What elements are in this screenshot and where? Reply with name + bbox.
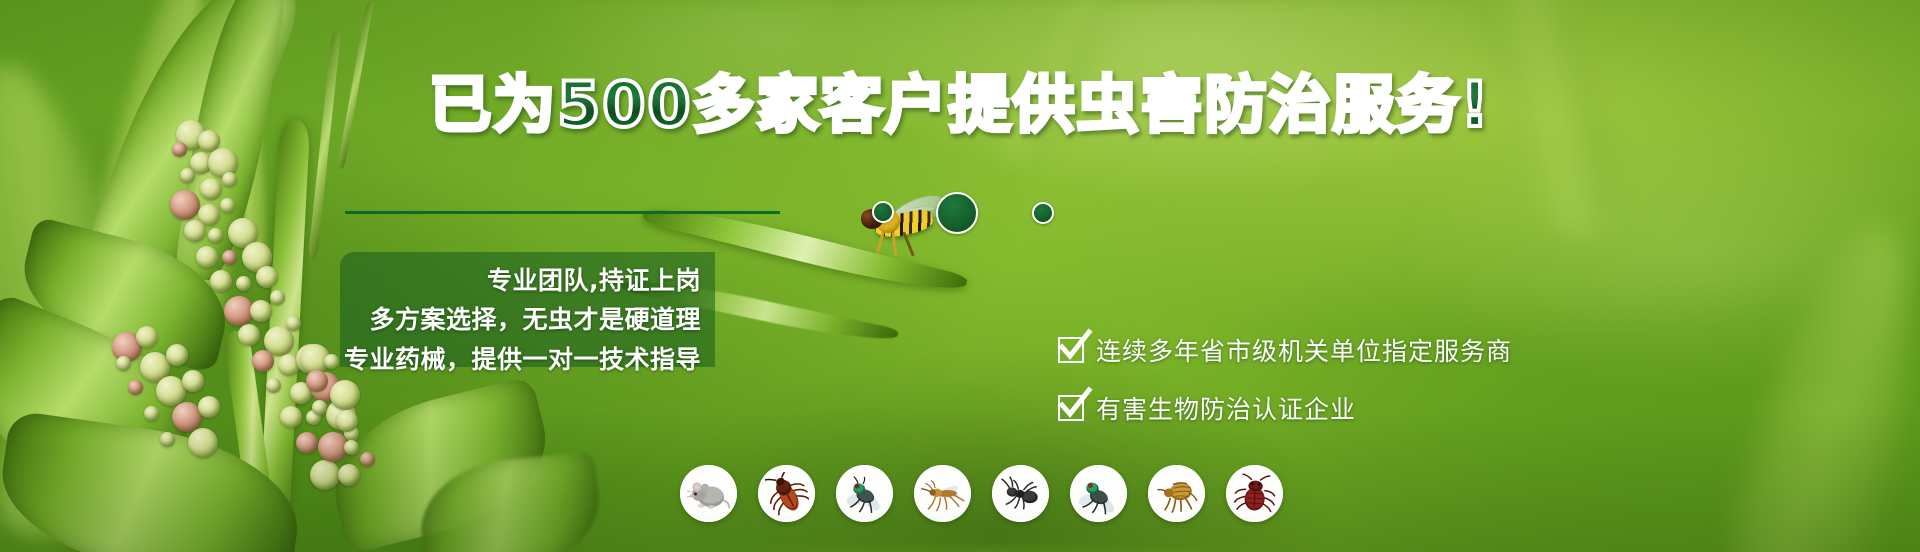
pest-icon-flea[interactable] xyxy=(1148,465,1205,522)
pest-icon-mosquito[interactable] xyxy=(914,465,971,522)
checklist-item-label: 连续多年省市级机关单位指定服务商 xyxy=(1096,332,1512,368)
pest-icon-blowfly[interactable] xyxy=(1070,465,1127,522)
page-title: 已为500多家客户提供虫害防治服务! xyxy=(429,72,1491,137)
pest-icon-strip xyxy=(680,465,1283,522)
pest-icon-bedbug[interactable] xyxy=(1226,465,1283,522)
selling-point-line-2: 多方案选择，无虫才是硬道理 xyxy=(340,300,701,340)
pest-icon-cockroach[interactable] xyxy=(758,465,815,522)
divider-rule xyxy=(345,211,780,214)
checkbox-checked-icon xyxy=(1058,337,1084,363)
checklist-item-label: 有害生物防治认证企业 xyxy=(1096,390,1356,426)
checkbox-checked-icon xyxy=(1058,395,1084,421)
plant-stem xyxy=(308,30,341,260)
headline-container: 已为500多家客户提供虫害防治服务! xyxy=(0,72,1920,137)
checklist-item: 连续多年省市级机关单位指定服务商 xyxy=(1058,332,1512,368)
dot-small-left-icon xyxy=(872,201,894,223)
decorative-dots xyxy=(864,192,1064,238)
dot-small-right-icon xyxy=(1032,202,1054,224)
dot-large-center-icon xyxy=(936,192,978,234)
pest-icon-fly[interactable] xyxy=(836,465,893,522)
pest-icon-ant[interactable] xyxy=(992,465,1049,522)
selling-point-line-3: 专业药械，提供一对一技术指导 xyxy=(340,340,701,380)
pest-control-hero-banner: 已为500多家客户提供虫害防治服务! 专业团队,持证上岗 多方案选择，无虫才是硬… xyxy=(0,0,1920,552)
pest-icon-mouse[interactable] xyxy=(680,465,737,522)
credentials-checklist: 连续多年省市级机关单位指定服务商 有害生物防治认证企业 xyxy=(1058,332,1512,448)
selling-points-panel: 专业团队,持证上岗 多方案选择，无虫才是硬道理 专业药械，提供一对一技术指导 xyxy=(340,252,715,367)
selling-point-line-1: 专业团队,持证上岗 xyxy=(340,262,701,300)
checklist-item: 有害生物防治认证企业 xyxy=(1058,390,1512,426)
